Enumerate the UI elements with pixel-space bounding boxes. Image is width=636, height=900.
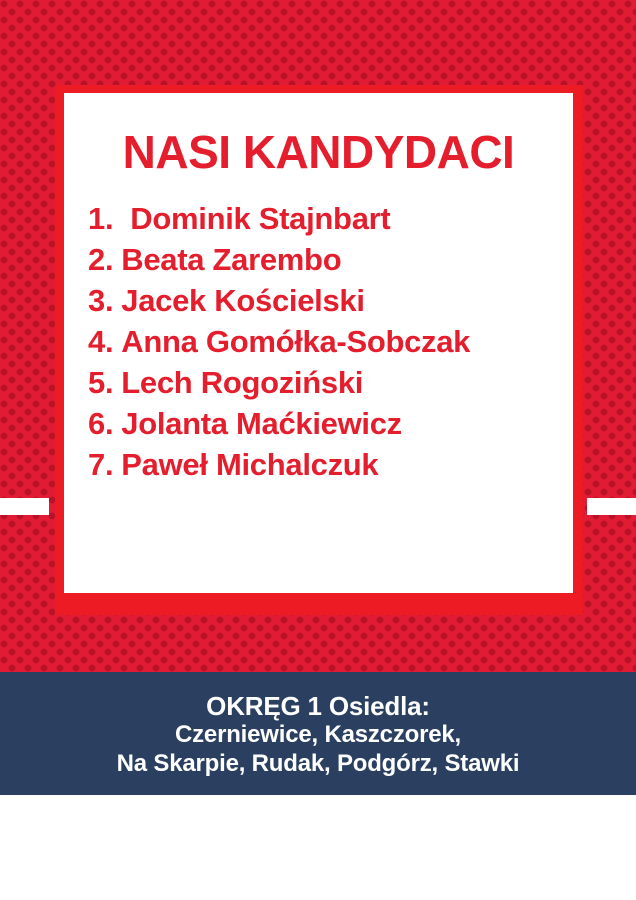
district-neighbourhoods-line-2: Na Skarpie, Rudak, Podgórz, Stawki: [117, 750, 520, 779]
list-item: 6. Jolanta Maćkiewicz: [88, 408, 573, 449]
district-neighbourhoods-line-1: Czerniewice, Kaszczorek,: [175, 721, 461, 750]
red-halftone-background: NASI KANDYDACI 1. Dominik Stajnbart 2. B…: [0, 0, 636, 672]
list-item: 1. Dominik Stajnbart: [88, 203, 573, 244]
district-band: OKRĘG 1 Osiedla: Czerniewice, Kaszczorek…: [0, 672, 636, 795]
footer: SILNY SAMORZĄD DEMOKRATYCZNA POLSKA SLD …: [0, 795, 636, 900]
candidate-name: Anna Gomółka-Sobczak: [121, 326, 470, 357]
candidate-number: 4.: [88, 326, 113, 357]
decorative-bar-right: [587, 498, 636, 515]
decorative-bar-left: [0, 498, 49, 515]
list-item: 4. Anna Gomółka-Sobczak: [88, 326, 573, 367]
candidate-number: 6.: [88, 408, 113, 439]
candidate-number: 1.: [88, 203, 113, 234]
candidate-number: 5.: [88, 367, 113, 398]
candidate-name: Beata Zarembo: [121, 244, 341, 275]
candidate-name: Dominik Stajnbart: [130, 203, 390, 234]
candidate-name: Jolanta Maćkiewicz: [121, 408, 402, 439]
candidate-number: 3.: [88, 285, 113, 316]
candidate-list: 1. Dominik Stajnbart 2. Beata Zarembo 3.…: [88, 203, 573, 490]
candidate-number: 2.: [88, 244, 113, 275]
candidates-card: NASI KANDYDACI 1. Dominik Stajnbart 2. B…: [64, 93, 573, 593]
list-item: 3. Jacek Kościelski: [88, 285, 573, 326]
list-item: 7. Paweł Michalczuk: [88, 449, 573, 490]
district-title: OKRĘG 1 Osiedla:: [206, 691, 430, 721]
candidate-number: 7.: [88, 449, 113, 480]
campaign-poster: NASI KANDYDACI 1. Dominik Stajnbart 2. B…: [0, 0, 636, 900]
candidate-name: Lech Rogoziński: [121, 367, 363, 398]
page-title: NASI KANDYDACI: [64, 129, 573, 175]
candidate-name: Paweł Michalczuk: [121, 449, 378, 480]
candidate-name: Jacek Kościelski: [121, 285, 364, 316]
list-item: 5. Lech Rogoziński: [88, 367, 573, 408]
list-item: 2. Beata Zarembo: [88, 244, 573, 285]
